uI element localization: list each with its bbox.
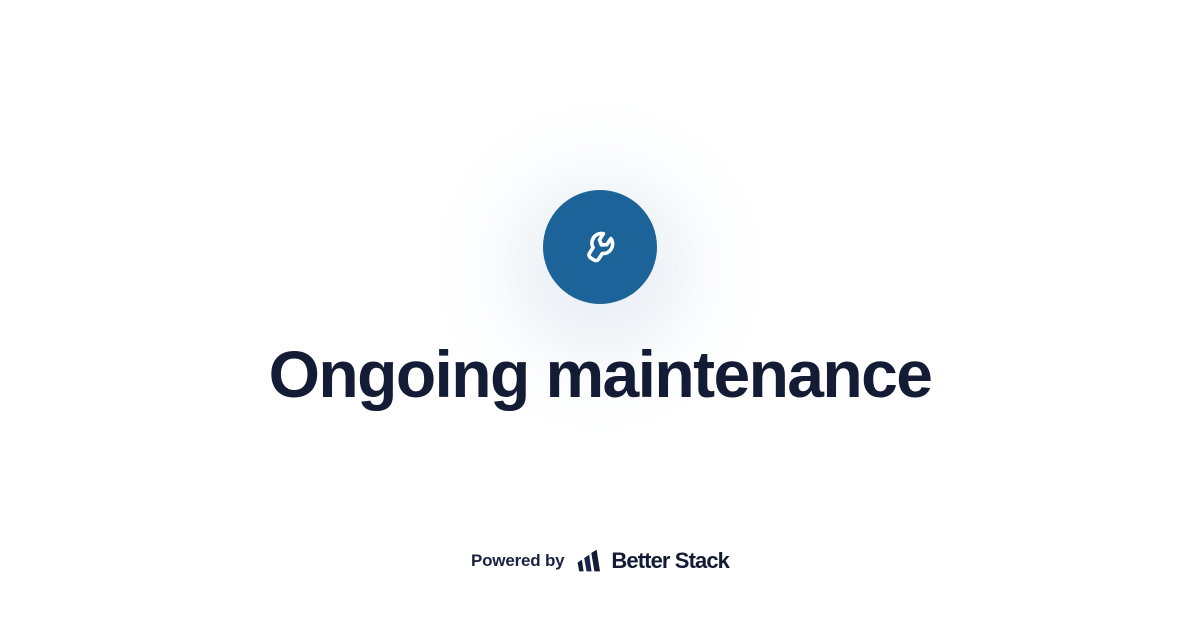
status-icon-glow xyxy=(543,190,657,304)
status-icon-area xyxy=(0,190,1200,304)
footer: Powered by Better Stack xyxy=(0,548,1200,574)
page-title: Ongoing maintenance xyxy=(0,336,1200,412)
maintenance-status-page: Ongoing maintenance Powered by Better St… xyxy=(0,0,1200,630)
brand-wordmark: Better Stack xyxy=(611,548,729,574)
wrench-icon xyxy=(575,222,625,272)
brand-lockup[interactable]: Better Stack xyxy=(577,548,729,574)
status-icon-circle xyxy=(543,190,657,304)
better-stack-logo-icon xyxy=(577,550,602,572)
powered-by-label: Powered by xyxy=(471,548,564,574)
